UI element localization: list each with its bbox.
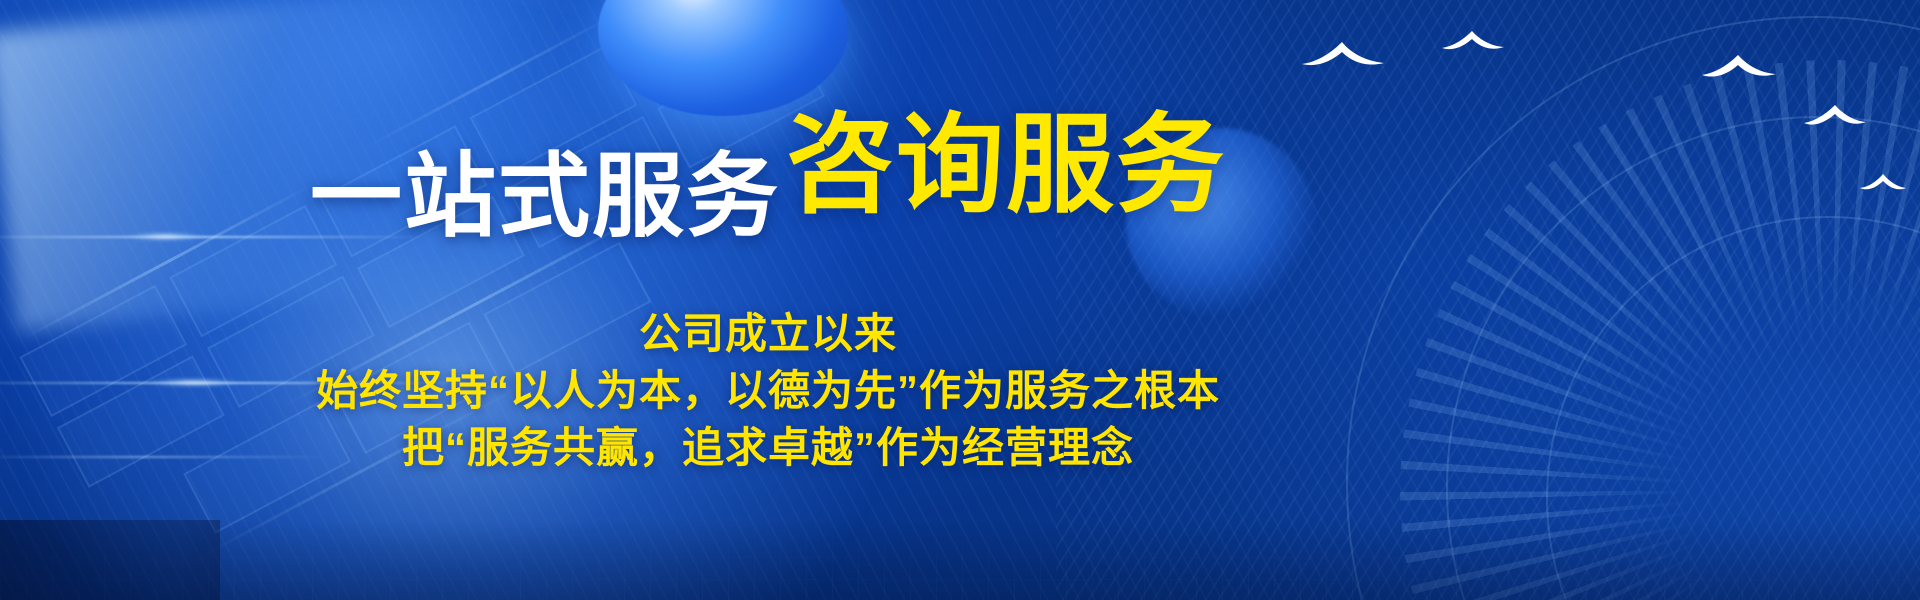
headline-white-text: 一站式服务 bbox=[310, 146, 780, 248]
seagull-4 bbox=[1802, 102, 1868, 130]
promotional-banner: 一站式服务咨询服务 公司成立以来 始终坚持“以人为本，以德为先”作为服务之根本 … bbox=[0, 0, 1920, 600]
seagull-2 bbox=[1440, 28, 1506, 54]
seagull-3 bbox=[1700, 52, 1778, 82]
subtitle-line-3: 把“服务共赢，追求卓越”作为经营理念 bbox=[0, 419, 1536, 476]
seagull-1 bbox=[1300, 38, 1386, 72]
subtitle-block: 公司成立以来 始终坚持“以人为本，以德为先”作为服务之根本 把“服务共赢，追求卓… bbox=[0, 305, 1536, 476]
seagull-5 bbox=[1858, 172, 1908, 194]
headline-yellow-text: 咨询服务 bbox=[786, 104, 1226, 225]
subtitle-line-2: 始终坚持“以人为本，以德为先”作为服务之根本 bbox=[0, 362, 1536, 419]
subtitle-line-1: 公司成立以来 bbox=[0, 305, 1536, 362]
headline: 一站式服务咨询服务 bbox=[0, 78, 1536, 255]
